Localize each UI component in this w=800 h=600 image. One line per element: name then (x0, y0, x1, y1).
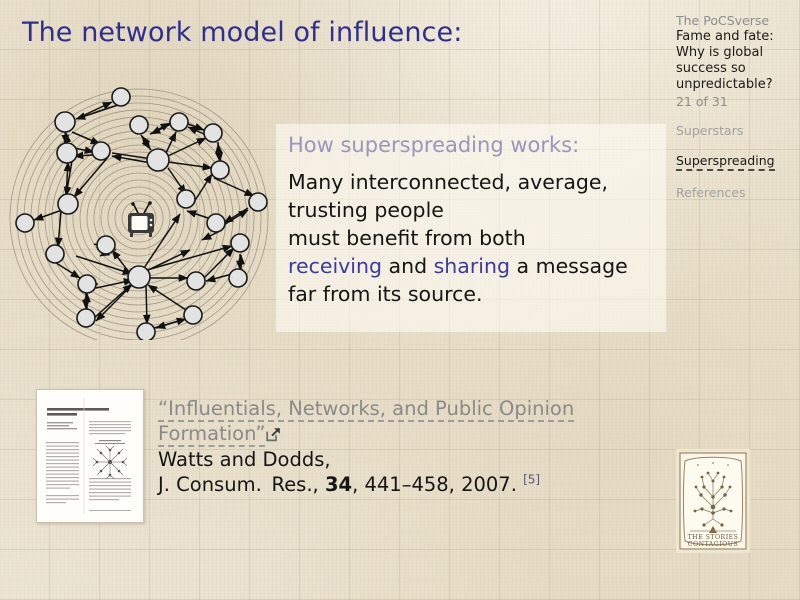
section-kicker: How superspreading works: (288, 133, 579, 157)
external-link-icon[interactable] (266, 423, 281, 438)
sidebar: The PoCSverse Fame and fate: Why is glob… (676, 13, 788, 212)
body-line-3: must benefit from both (288, 224, 660, 252)
sidebar-item-references[interactable]: References (676, 185, 745, 201)
citation-block: “Influentials, Networks, and Public Opin… (158, 396, 628, 497)
paper-first-page-thumbnail[interactable] (36, 389, 144, 523)
highlight-receiving: receiving (288, 254, 382, 278)
paper-thumbnail-svg (37, 390, 141, 520)
tarot-card-svg: THE STORIES CONTAGIOUS (676, 449, 750, 553)
tarot-card-the-stories-contagious: THE STORIES CONTAGIOUS (676, 449, 750, 553)
network-model-diagram (8, 78, 276, 340)
sidebar-brand: The PoCSverse (676, 13, 788, 29)
citation-pages: , 441–458, 2007. (352, 473, 517, 496)
citation-authors: Watts and Dodds, (158, 447, 628, 472)
body-line-4: receiving and sharing a message (288, 252, 660, 280)
body-line-2: trusting people (288, 196, 660, 224)
sidebar-deck-title-line-1: Fame and fate: (676, 29, 788, 45)
body-line-4-tail: a message (510, 254, 628, 278)
network-svg (8, 78, 276, 340)
citation-source: J. Consum. Res., 34, 441–458, 2007. [5] (158, 472, 628, 497)
sidebar-deck-title-line-3: success so (676, 61, 788, 77)
sidebar-nav: Superstars Superspreading References (676, 120, 788, 212)
body-line-1: Many interconnected, average, (288, 168, 660, 196)
citation-link-line-2[interactable]: Formation” (158, 421, 628, 446)
sidebar-deck-title-line-2: Why is global (676, 45, 788, 61)
citation-link-text-2[interactable]: Formation” (158, 422, 265, 447)
body-text: Many interconnected, average, trusting p… (288, 168, 660, 308)
citation-journal: J. Consum. Res., (158, 473, 319, 496)
reference-marker[interactable]: [5] (523, 473, 540, 487)
sidebar-deck-title-line-4: unpredictable? (676, 77, 788, 93)
tarot-card-line-1: THE STORIES (688, 534, 739, 541)
sidebar-item-superspreading[interactable]: Superspreading (676, 153, 775, 172)
slide-canvas: The network model of influence: The PoCS… (0, 0, 800, 600)
page-indicator: 21 of 31 (676, 94, 788, 110)
sidebar-item-superstars[interactable]: Superstars (676, 123, 743, 139)
highlight-sharing: sharing (434, 254, 510, 278)
page-title: The network model of influence: (22, 17, 462, 48)
television-icon (128, 201, 154, 237)
citation-volume: 34 (325, 473, 352, 496)
body-line-5: far from its source. (288, 280, 660, 308)
body-line-4-and: and (382, 254, 434, 278)
citation-link-text-1[interactable]: “Influentials, Networks, and Public Opin… (158, 397, 574, 422)
tarot-card-line-2: CONTAGIOUS (688, 541, 738, 548)
citation-link-line-1[interactable]: “Influentials, Networks, and Public Opin… (158, 396, 628, 421)
